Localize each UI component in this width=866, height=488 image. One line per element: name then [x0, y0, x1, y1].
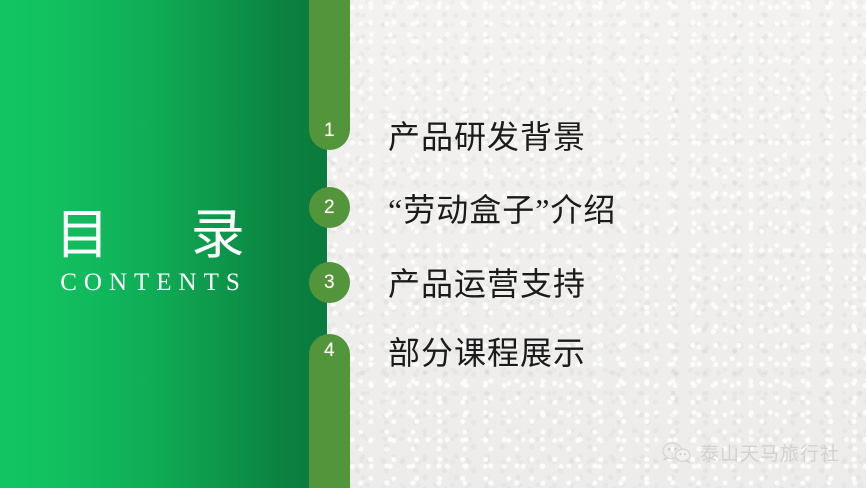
- watermark: 泰山天马旅行社: [661, 439, 840, 466]
- contents-heading: 目 录 CONTENTS: [0, 206, 300, 297]
- contents-number-1[interactable]: 1: [309, 110, 350, 151]
- contents-item-2[interactable]: “劳动盒子”介绍: [388, 194, 616, 226]
- contents-number-4[interactable]: 4: [309, 330, 350, 371]
- wechat-icon: [661, 441, 691, 465]
- contents-number-3-label: 3: [324, 272, 335, 294]
- contents-number-4-label: 4: [324, 340, 335, 362]
- contents-list: 产品研发背景 “劳动盒子”介绍 产品运营支持 部分课程展示: [388, 0, 828, 488]
- contents-number-2-label: 2: [324, 197, 335, 219]
- contents-item-1[interactable]: 产品研发背景: [388, 121, 586, 153]
- watermark-label: 泰山天马旅行社: [700, 439, 840, 466]
- contents-title-cn: 目 录: [0, 206, 300, 265]
- contents-item-4[interactable]: 部分课程展示: [388, 337, 586, 369]
- contents-number-2[interactable]: 2: [309, 187, 350, 228]
- contents-number-1-label: 1: [324, 120, 335, 142]
- contents-number-3[interactable]: 3: [309, 262, 350, 303]
- contents-title-en: CONTENTS: [0, 269, 300, 297]
- contents-item-3[interactable]: 产品运营支持: [388, 268, 586, 300]
- presentation-slide: 1 2 3 4 目 录 CONTENTS 产品研发背景 “劳动盒子”介绍 产品运…: [0, 0, 866, 488]
